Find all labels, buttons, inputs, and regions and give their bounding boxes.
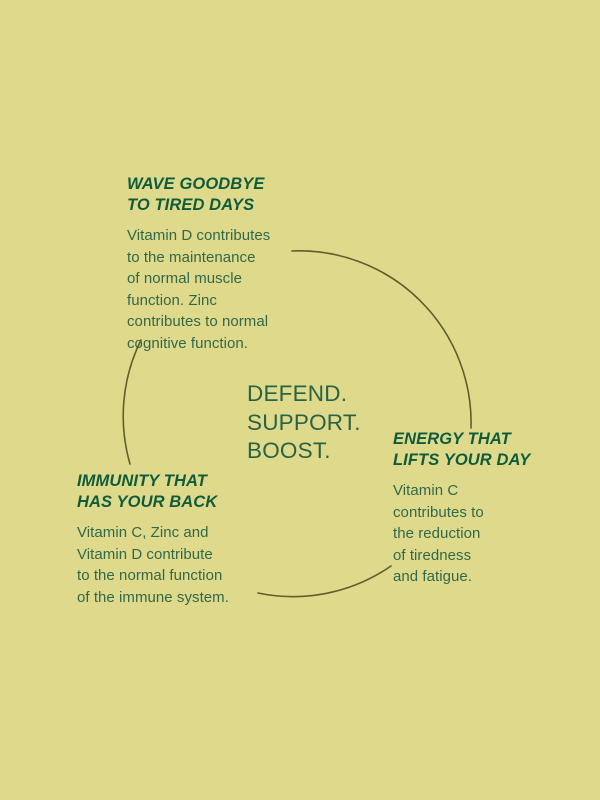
- benefit-block-wave-goodbye: WAVE GOODBYE TO TIRED DAYS Vitamin D con…: [127, 174, 327, 354]
- benefit-body-wave-goodbye: Vitamin D contributes to the maintenance…: [127, 225, 327, 354]
- center-tagline: DEFEND. SUPPORT. BOOST.: [247, 380, 361, 466]
- benefit-block-immunity: IMMUNITY THAT HAS YOUR BACK Vitamin C, Z…: [77, 471, 287, 608]
- benefit-body-immunity: Vitamin C, Zinc and Vitamin D contribute…: [77, 522, 287, 608]
- benefit-body-energy: Vitamin C contributes to the reduction o…: [393, 480, 558, 588]
- benefit-block-energy: ENERGY THAT LIFTS YOUR DAY Vitamin C con…: [393, 429, 558, 588]
- benefit-heading-energy: ENERGY THAT LIFTS YOUR DAY: [393, 429, 558, 471]
- arc-left: [123, 340, 141, 464]
- benefit-heading-immunity: IMMUNITY THAT HAS YOUR BACK: [77, 471, 287, 513]
- poster-canvas: WAVE GOODBYE TO TIRED DAYS Vitamin D con…: [0, 0, 600, 800]
- benefit-heading-wave-goodbye: WAVE GOODBYE TO TIRED DAYS: [127, 174, 327, 216]
